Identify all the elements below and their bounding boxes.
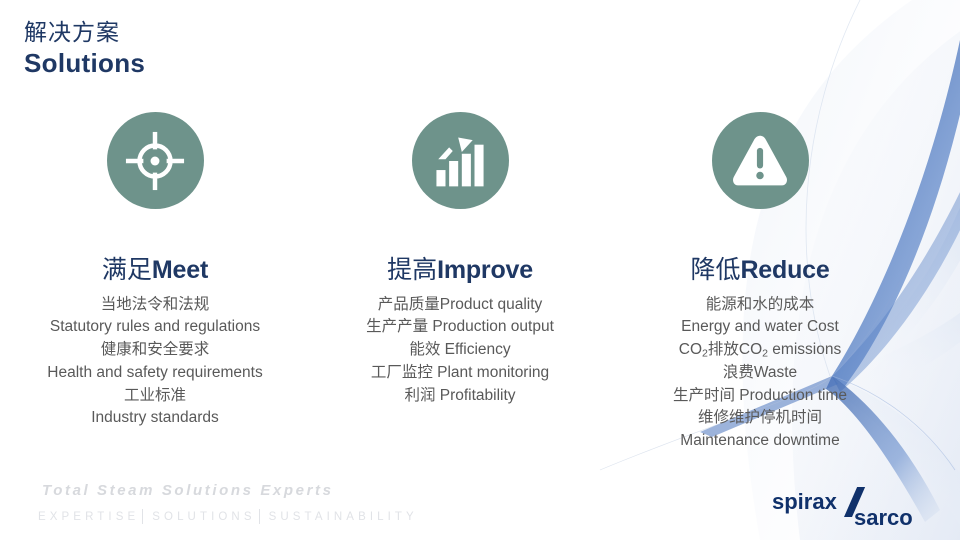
list-item: 利润 Profitability (310, 385, 610, 408)
list-item: 生产时间 Production time (610, 385, 910, 408)
column-lines-reduce: 能源和水的成本 Energy and water Cost CO2排放CO2 e… (610, 294, 910, 454)
list-item: Health and safety requirements (0, 362, 310, 385)
footer-divider (259, 509, 260, 524)
bar-chart-growth-icon (412, 112, 509, 209)
column-heading-reduce: 降低Reduce (610, 257, 910, 285)
column-heading-improve-english: Improve (437, 256, 533, 284)
column-heading-meet: 满足Meet (0, 257, 310, 285)
list-item: Maintenance downtime (610, 430, 910, 453)
solution-column-improve: 提高Improve 产品质量Product quality 生产产量 Produ… (310, 112, 610, 453)
spirax-sarco-logo: spirax sarco (770, 487, 945, 532)
list-item: 工业标准 (0, 385, 310, 408)
solutions-columns: 满足Meet 当地法令和法规 Statutory rules and regul… (0, 112, 960, 453)
solution-column-reduce: 降低Reduce 能源和水的成本 Energy and water Cost C… (610, 112, 910, 453)
logo-word-spirax: spirax (772, 489, 838, 514)
footer-pillars: EXPERTISE SOLUTIONS SUSTAINABILITY (38, 509, 418, 524)
footer-divider (142, 509, 143, 524)
footer-pillar-solutions: SOLUTIONS (152, 511, 255, 523)
column-heading-meet-chinese: 满足 (102, 257, 152, 284)
warning-triangle-icon (712, 112, 809, 209)
list-item: 能源和水的成本 (610, 294, 910, 317)
footer-pillar-expertise: EXPERTISE (38, 511, 139, 523)
list-item: 浪费Waste (610, 362, 910, 385)
column-lines-meet: 当地法令和法规 Statutory rules and regulations … (0, 294, 310, 431)
list-item: 生产产量 Production output (310, 316, 610, 339)
page-title-chinese: 解决方案 (24, 20, 145, 46)
column-heading-improve: 提高Improve (310, 257, 610, 285)
logo-word-sarco: sarco (854, 505, 913, 530)
footer-tagline: Total Steam Solutions Experts (42, 482, 334, 499)
footer-pillar-sustainability: SUSTAINABILITY (269, 511, 418, 523)
page-title-english: Solutions (24, 49, 145, 78)
list-item: Industry standards (0, 407, 310, 430)
page-title: 解决方案 Solutions (24, 20, 145, 78)
list-item: 产品质量Product quality (310, 294, 610, 317)
list-item: 当地法令和法规 (0, 294, 310, 317)
column-heading-meet-english: Meet (152, 256, 208, 284)
list-item-co2: CO2排放CO2 emissions (610, 339, 910, 362)
list-item: 健康和安全要求 (0, 339, 310, 362)
slide-canvas: 解决方案 Solutions (0, 0, 960, 540)
column-heading-reduce-chinese: 降低 (690, 257, 740, 284)
list-item: 工厂监控 Plant monitoring (310, 362, 610, 385)
list-item: 维修维护停机时间 (610, 407, 910, 430)
solution-column-meet: 满足Meet 当地法令和法规 Statutory rules and regul… (0, 112, 310, 453)
column-heading-improve-chinese: 提高 (387, 257, 437, 284)
column-lines-improve: 产品质量Product quality 生产产量 Production outp… (310, 294, 610, 408)
column-heading-reduce-english: Reduce (740, 256, 829, 284)
list-item: Statutory rules and regulations (0, 316, 310, 339)
target-crosshair-icon (107, 112, 204, 209)
list-item: 能效 Efficiency (310, 339, 610, 362)
list-item: Energy and water Cost (610, 316, 910, 339)
